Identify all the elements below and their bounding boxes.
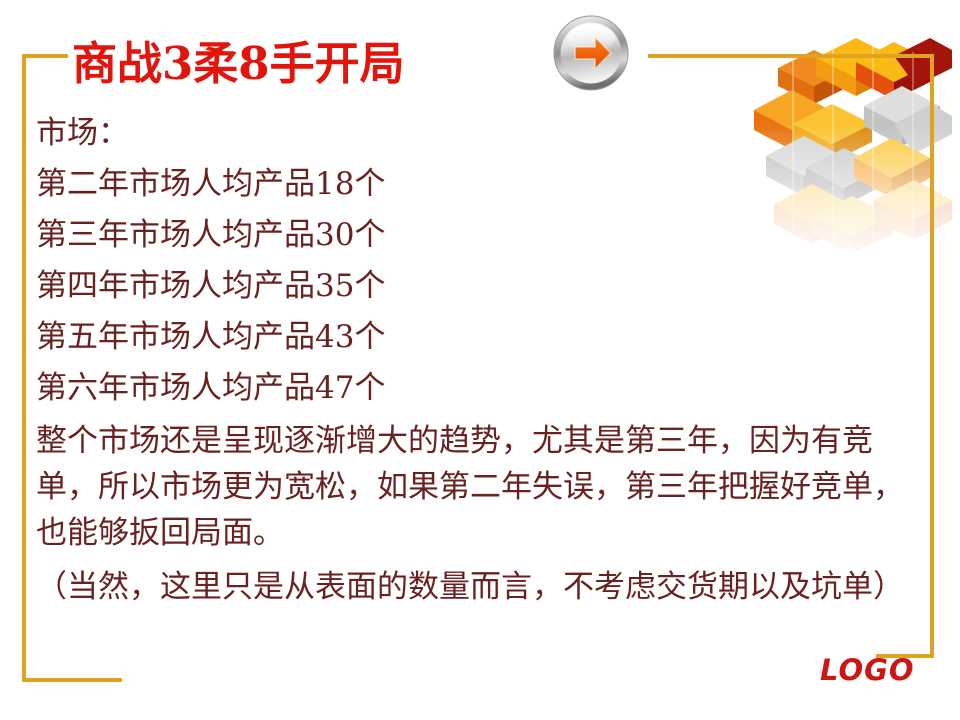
market-line-1: 第二年市场人均产品18个: [36, 159, 926, 210]
market-line-3: 第四年市场人均产品35个: [36, 261, 926, 312]
slide-title: 商战3柔8手开局: [72, 38, 542, 90]
body-heading: 市场：: [36, 108, 926, 159]
frame-right-segment: [930, 54, 934, 658]
slide-body: 市场： 第二年市场人均产品18个 第三年市场人均产品30个 第四年市场人均产品3…: [36, 108, 926, 610]
market-line-4: 第五年市场人均产品43个: [36, 312, 926, 363]
frame-left-segment: [22, 54, 26, 682]
frame-bottom-left-segment: [22, 678, 122, 682]
parenthetical-note: （当然，这里只是从表面的数量而言，不考虑交货期以及坑单）: [36, 564, 916, 610]
market-line-5: 第六年市场人均产品47个: [36, 363, 926, 414]
logo-text: LOGO: [820, 653, 915, 687]
frame-top-left-segment: [22, 54, 68, 58]
frame-top-right-segment: [648, 54, 934, 58]
slide-canvas: 商战3柔8手开局 市场： 第二年市场人均产品18个 第三年市场人均产品30个 第…: [0, 0, 960, 720]
summary-paragraph: 整个市场还是呈现逐渐增大的趋势，尤其是第三年，因为有竞单，所以市场更为宽松，如果…: [36, 418, 916, 556]
next-arrow-button[interactable]: [551, 13, 635, 97]
market-line-2: 第三年市场人均产品30个: [36, 210, 926, 261]
